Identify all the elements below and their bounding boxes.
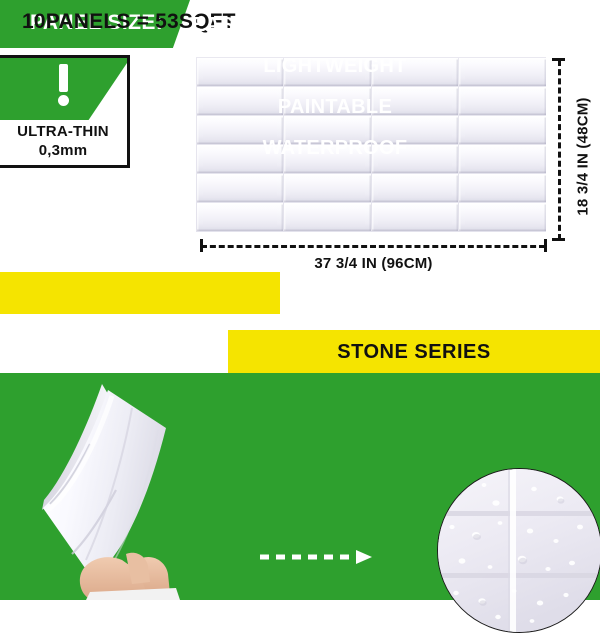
tile [197, 203, 284, 231]
width-dimension-cap-right [544, 239, 547, 252]
coverage-banner [0, 272, 280, 314]
ultra-thin-callout-box: ULTRA-THIN 0,3mm [0, 55, 130, 168]
height-dimension-line [558, 60, 561, 240]
width-dimension-label: 37 3/4 IN (96CM) [196, 255, 551, 272]
feature-item: PAINTABLE [150, 96, 520, 119]
ultra-thin-label: ULTRA-THIN 0,3mm [0, 122, 127, 160]
flexible-panel-photo [30, 382, 215, 600]
tile [372, 203, 459, 231]
tile [459, 174, 546, 202]
tile [459, 203, 546, 231]
feature-list: EASY TO INSTALL-FLEXIBLE LIGHTWEIGHT PAI… [150, 14, 520, 178]
ultra-thin-label-line1: ULTRA-THIN [0, 122, 127, 141]
tile-row [196, 203, 546, 232]
series-banner: STONE SERIES [228, 330, 600, 373]
feature-item: LIGHTWEIGHT [150, 55, 520, 78]
width-dimension-line [201, 245, 545, 248]
dashed-arrow-right-icon [258, 548, 378, 566]
infographic-page: PANEL SIZE: ULTRA-THIN 0,3mm [0, 0, 600, 600]
waterproof-detail-image [437, 468, 600, 633]
ultra-thin-label-line2: 0,3mm [0, 141, 127, 160]
tile [284, 203, 371, 231]
callout-green-shape [0, 58, 127, 120]
tile [372, 174, 459, 202]
height-dimension-label: 18 3/4 IN (48CM) [575, 97, 592, 215]
height-dimension-cap-bottom [552, 238, 565, 241]
tile [284, 174, 371, 202]
feature-item: EASY TO INSTALL-FLEXIBLE [150, 14, 520, 37]
tile [197, 174, 284, 202]
series-banner-text: STONE SERIES [228, 341, 600, 364]
feature-item: WATERPROOF [150, 137, 520, 160]
exclamation-icon [0, 64, 127, 106]
